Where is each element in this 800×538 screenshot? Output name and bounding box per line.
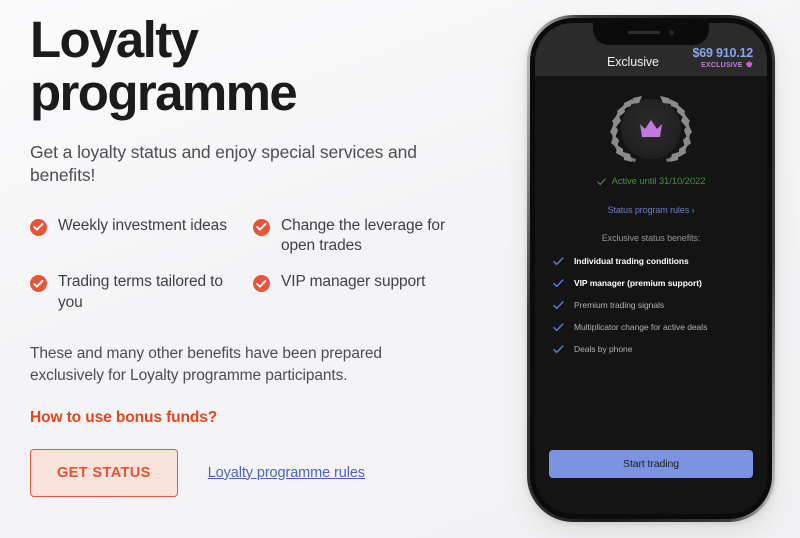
balance-block[interactable]: $69 910.12 EXCLUSIVE ♚ bbox=[692, 46, 753, 69]
hero-content: Loyalty programme Get a loyalty status a… bbox=[30, 14, 500, 497]
crown-icon: ♚ bbox=[746, 61, 753, 69]
headline-line-2: programme bbox=[30, 67, 500, 120]
bonus-funds-link[interactable]: How to use bonus funds? bbox=[30, 409, 217, 427]
status-badge-label: EXCLUSIVE bbox=[701, 62, 742, 69]
loyalty-programme-rules-link[interactable]: Loyalty programme rules bbox=[208, 465, 365, 481]
benefit-label: Change the leverage for open trades bbox=[281, 216, 458, 257]
benefit-item: Change the leverage for open trades bbox=[253, 216, 458, 257]
cta-row: GET STATUS Loyalty programme rules bbox=[30, 449, 500, 497]
benefit-item: Weekly investment ideas bbox=[30, 216, 235, 257]
app-benefit-item: Multiplicator change for active deals bbox=[553, 322, 749, 332]
benefit-item: VIP manager support bbox=[253, 272, 458, 313]
app-body: Active until 31/10/2022 Status program r… bbox=[535, 76, 767, 354]
benefit-label: Weekly investment ideas bbox=[58, 216, 227, 236]
app-benefit-item: Deals by phone bbox=[553, 344, 749, 354]
check-circle-icon bbox=[30, 275, 47, 292]
status-emblem bbox=[549, 90, 753, 168]
check-circle-icon bbox=[253, 275, 270, 292]
app-benefit-label: VIP manager (premium support) bbox=[574, 278, 702, 288]
benefits-grid: Weekly investment ideas Change the lever… bbox=[30, 216, 500, 314]
check-icon bbox=[553, 345, 564, 354]
laurel-wreath-icon bbox=[597, 92, 705, 168]
speaker-grille-icon bbox=[628, 31, 660, 35]
status-badge: EXCLUSIVE ♚ bbox=[692, 61, 753, 69]
hero-subheading: Get a loyalty status and enjoy special s… bbox=[30, 141, 420, 188]
headline-line-1: Loyalty bbox=[30, 11, 197, 68]
benefit-label: VIP manager support bbox=[281, 272, 425, 292]
check-icon bbox=[597, 178, 606, 186]
app-benefit-label: Premium trading signals bbox=[574, 300, 664, 310]
phone-mockup: Exclusive $69 910.12 EXCLUSIVE ♚ bbox=[527, 15, 775, 522]
app-benefits-list: Individual trading conditions VIP manage… bbox=[549, 256, 753, 354]
status-program-rules-link[interactable]: Status program rules › bbox=[549, 205, 753, 215]
check-icon bbox=[553, 279, 564, 288]
app-benefit-label: Deals by phone bbox=[574, 344, 632, 354]
app-benefit-item: VIP manager (premium support) bbox=[553, 278, 749, 288]
app-benefit-item: Individual trading conditions bbox=[553, 256, 749, 266]
front-camera-icon bbox=[669, 30, 674, 35]
phone-screen: Exclusive $69 910.12 EXCLUSIVE ♚ bbox=[535, 23, 767, 514]
page-title: Loyalty programme bbox=[30, 14, 500, 119]
app-benefit-label: Individual trading conditions bbox=[574, 256, 689, 266]
active-until-label: Active until 31/10/2022 bbox=[612, 176, 706, 187]
check-circle-icon bbox=[253, 219, 270, 236]
get-status-button[interactable]: GET STATUS bbox=[30, 449, 178, 497]
phone-bezel: Exclusive $69 910.12 EXCLUSIVE ♚ bbox=[530, 18, 772, 519]
app-benefit-label: Multiplicator change for active deals bbox=[574, 322, 707, 332]
phone-notch bbox=[593, 23, 709, 45]
app-benefit-item: Premium trading signals bbox=[553, 300, 749, 310]
check-icon bbox=[553, 301, 564, 310]
benefit-item: Trading terms tailored to you bbox=[30, 272, 235, 313]
account-balance: $69 910.12 bbox=[692, 46, 753, 60]
benefit-label: Trading terms tailored to you bbox=[58, 272, 235, 313]
check-circle-icon bbox=[30, 219, 47, 236]
active-until-row: Active until 31/10/2022 bbox=[549, 176, 753, 187]
app-title: Exclusive bbox=[607, 55, 659, 69]
hero-note: These and many other benefits have been … bbox=[30, 343, 450, 386]
start-trading-button[interactable]: Start trading bbox=[549, 450, 753, 478]
check-icon bbox=[553, 323, 564, 332]
check-icon bbox=[553, 257, 564, 266]
app-benefits-title: Exclusive status benefits: bbox=[549, 233, 753, 243]
